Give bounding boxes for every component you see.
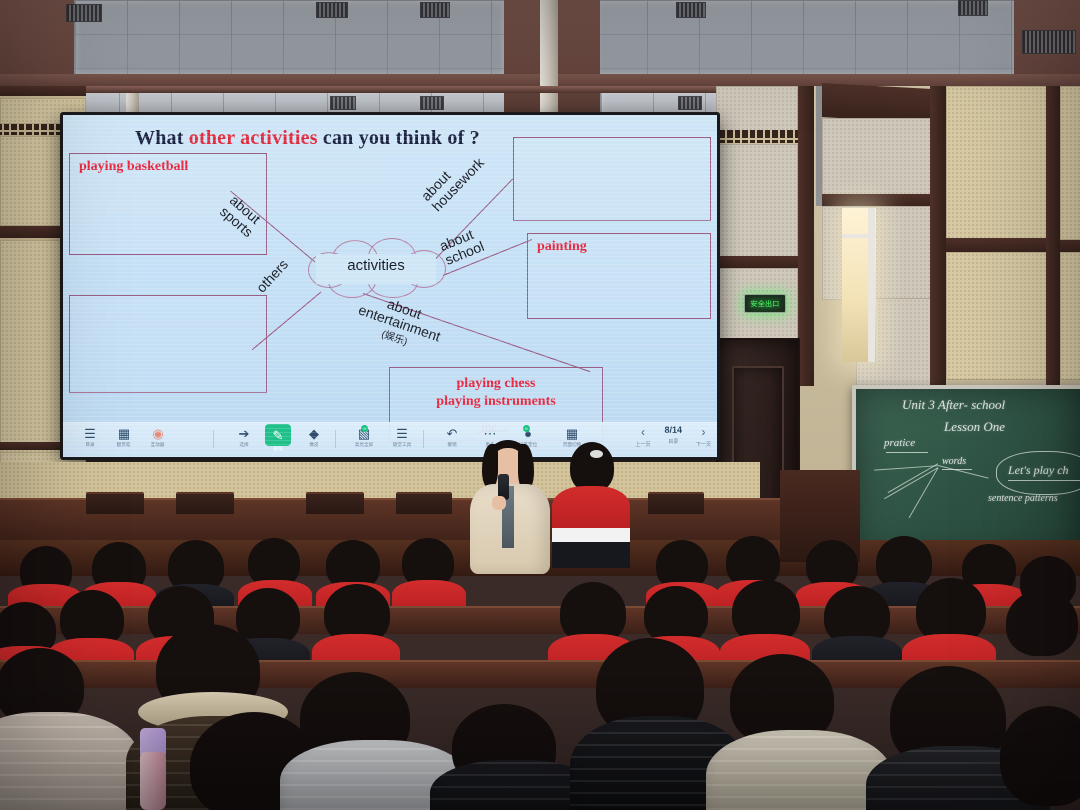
- pin-icon: ● 0: [524, 426, 532, 441]
- menu-icon: ☰: [84, 426, 96, 441]
- shape-tool-badge: 0: [361, 425, 368, 432]
- stage-chair: [306, 492, 364, 514]
- eraser-icon: ◆: [309, 426, 319, 441]
- projection-screen-bezel: What other activities can you think of ?…: [60, 112, 720, 460]
- ceiling-vent: [66, 4, 102, 22]
- winter-coat: [706, 730, 892, 810]
- box-label-painting: painting: [537, 239, 587, 255]
- toolbar-pen-tool[interactable]: ✎ 画笔: [261, 426, 295, 452]
- pen-icon: ✎: [265, 424, 291, 446]
- student-uniform-top: [552, 486, 630, 534]
- grid-icon: ▦: [566, 426, 578, 441]
- toolbar-menu-button[interactable]: ☰ 目录: [73, 426, 107, 448]
- mindmap-box-others: [69, 295, 267, 393]
- toolbar-slide-button[interactable]: ▦ 翻页笔: [107, 426, 141, 448]
- classroom-photo: 安全出口 What other activities can you think…: [0, 0, 1080, 810]
- exit-sign-label: 安全出口: [750, 299, 779, 309]
- projection-screen[interactable]: What other activities can you think of ?…: [63, 115, 717, 457]
- winter-coat: [0, 712, 140, 810]
- slide-title-highlight: other activities: [189, 127, 318, 149]
- box-label-chess-1: playing chess: [390, 376, 602, 392]
- toolbar-list-tool[interactable]: ☰ 随堂工具: [385, 426, 419, 448]
- blackboard-cloud-text: Let's play ch: [1008, 463, 1069, 478]
- prev-slide-button[interactable]: ‹ 上一页: [635, 426, 650, 448]
- branch-gloss-entertainment: (娱乐): [380, 329, 409, 348]
- ceiling-vent: [676, 2, 706, 18]
- list-icon: ☰: [396, 426, 408, 441]
- toolbar-interact-button[interactable]: ◉ 互动器: [141, 426, 175, 448]
- branch-label-housework: about housework: [418, 145, 486, 214]
- branch-label-others: others: [254, 257, 291, 295]
- stage-chair: [86, 492, 144, 514]
- toolbar-undo-button[interactable]: ↶ 撤销: [435, 426, 469, 448]
- blackboard-title-line-1: Unit 3 After- school: [902, 397, 1005, 413]
- box-label-basketball: playing basketball: [79, 159, 188, 175]
- branch-label-entertainment: about entertainment (娱乐): [352, 288, 448, 358]
- ceiling-vent: [958, 0, 988, 16]
- stage-chair: [176, 492, 234, 514]
- blackboard-frame: Unit 3 After- school Lesson One pratice …: [852, 385, 1080, 561]
- toolbar-eraser-tool[interactable]: ◆ 橡皮: [297, 426, 331, 448]
- slide-title: What other activities can you think of ?: [135, 127, 480, 150]
- cursor-icon: ➔: [239, 426, 250, 441]
- stage-chair: [648, 492, 704, 514]
- blackboard-title-line-2: Lesson One: [944, 419, 1005, 435]
- mindmap-box-painting: painting: [527, 233, 711, 319]
- slide-title-prefix: What: [135, 127, 189, 149]
- center-node-label: activities: [306, 257, 446, 274]
- toolbar-shape-tool[interactable]: ▧ 0 高亮全屏: [347, 426, 381, 448]
- blackboard-note-sentence: sentence patterns: [988, 493, 1058, 504]
- ceiling-vent: [1022, 30, 1076, 54]
- chevron-right-icon: ›: [701, 426, 705, 438]
- ceiling-vent: [420, 2, 450, 18]
- slide-title-suffix: can you think of ?: [318, 127, 480, 149]
- box-label-chess-2: playing instruments: [390, 394, 602, 410]
- pin-tool-badge: 0: [523, 425, 530, 432]
- blackboard-note-words: words: [942, 456, 966, 467]
- circle-icon: ◉: [152, 426, 163, 441]
- ceiling-vent: [420, 96, 444, 110]
- page-indicator-value: 8/14: [664, 426, 682, 435]
- blackboard-note-practice: pratice: [884, 437, 915, 449]
- stage-chair: [396, 492, 452, 514]
- ceiling-vent: [678, 96, 702, 110]
- slide-pager[interactable]: ‹ 上一页 8/14 目录 › 下一页: [635, 426, 711, 448]
- undo-icon: ↶: [447, 426, 458, 441]
- chevron-left-icon: ‹: [641, 426, 645, 438]
- shape-icon: ▧ 0: [358, 426, 370, 441]
- presentation-slide: What other activities can you think of ?…: [63, 115, 717, 457]
- mindmap-box-housework: [513, 137, 711, 221]
- water-bottle: [140, 752, 166, 810]
- next-slide-button[interactable]: › 下一页: [696, 426, 711, 448]
- mindmap-center-node: activities: [306, 238, 446, 298]
- greek-key-border: [716, 130, 798, 143]
- more-icon: ⋯: [484, 426, 497, 441]
- toolbar-cursor-tool[interactable]: ➔ 选择: [227, 426, 261, 448]
- ceiling-vent: [316, 2, 348, 18]
- slide-icon: ▦: [118, 426, 130, 441]
- blackboard: Unit 3 After- school Lesson One pratice …: [856, 389, 1080, 557]
- exit-sign: 安全出口: [744, 294, 786, 313]
- ceiling-vent: [330, 96, 356, 110]
- page-indicator[interactable]: 8/14 目录: [664, 426, 682, 445]
